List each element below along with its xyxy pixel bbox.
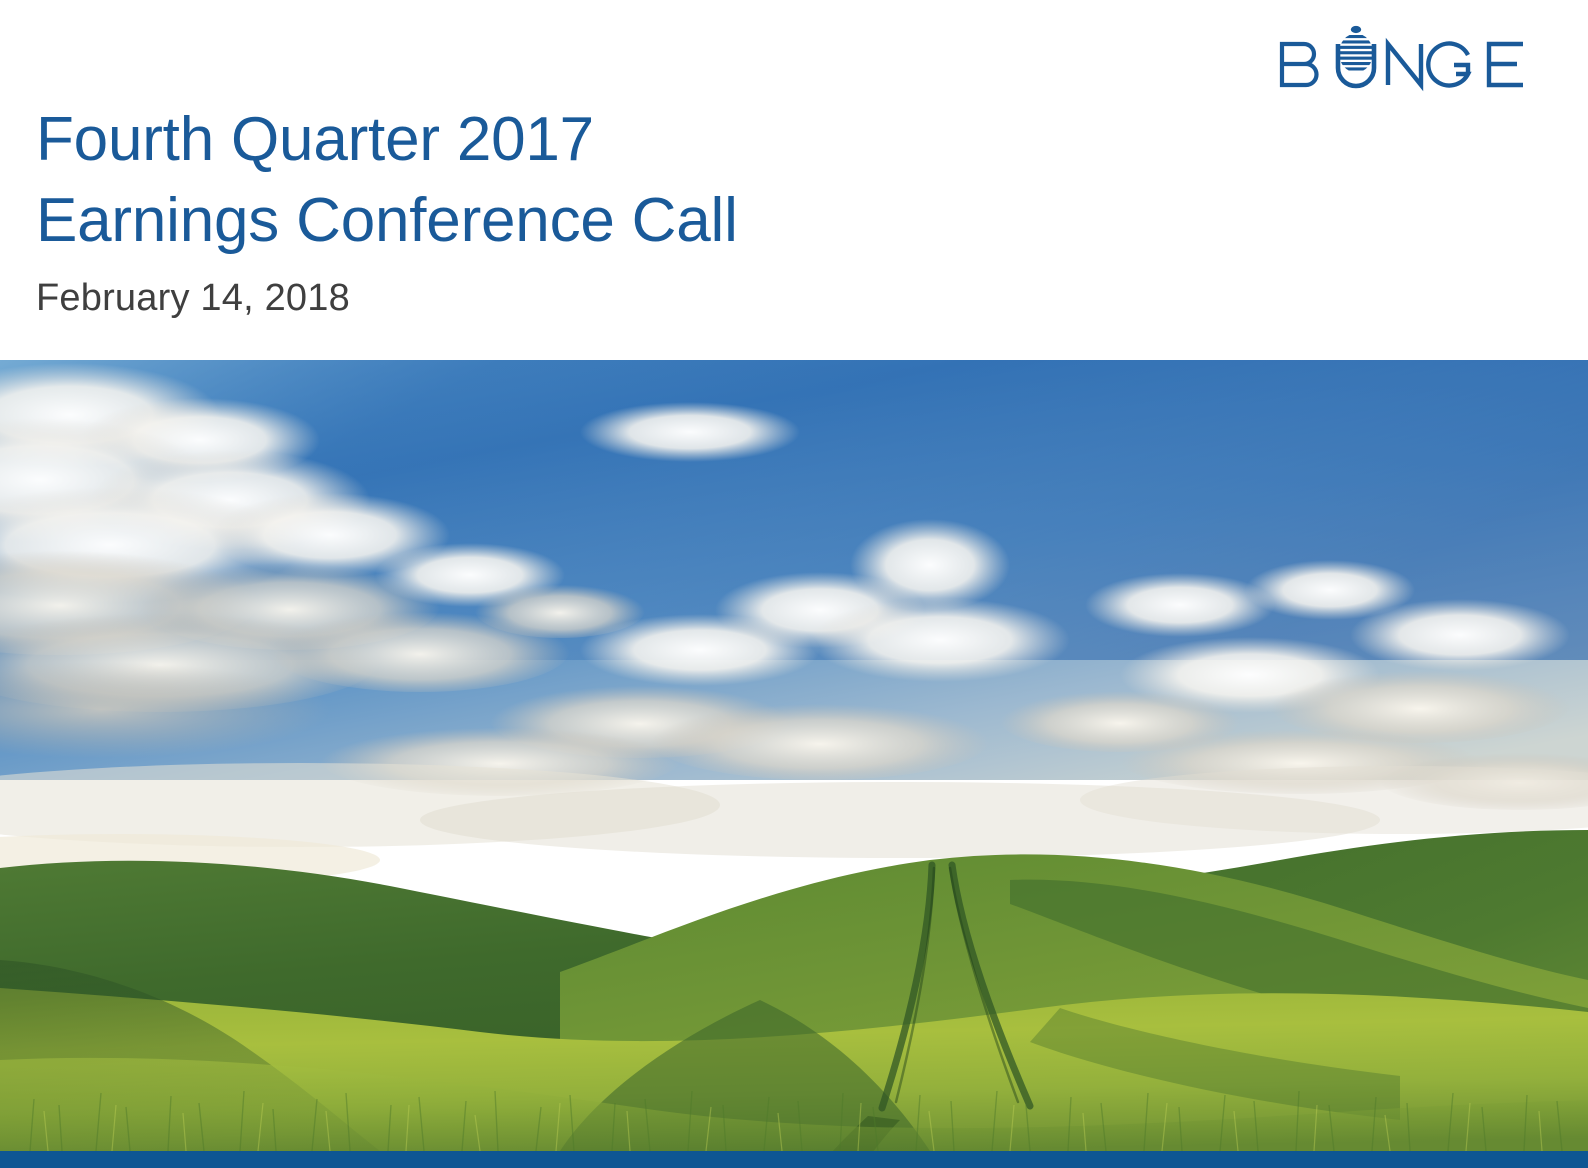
bottom-accent-bar [0, 1151, 1588, 1168]
hero-image-field-landscape [0, 360, 1588, 1151]
title-block: Fourth Quarter 2017 Earnings Conference … [36, 100, 1236, 323]
page-title-line-1: Fourth Quarter 2017 [36, 100, 1236, 181]
slide-date: February 14, 2018 [36, 275, 1236, 323]
presentation-title-slide: Fourth Quarter 2017 Earnings Conference … [0, 0, 1588, 1168]
page-title-line-2: Earnings Conference Call [36, 181, 1236, 262]
bunge-grain-icon [1336, 26, 1376, 71]
slide-header: Fourth Quarter 2017 Earnings Conference … [0, 0, 1588, 360]
bunge-wordmark [1282, 44, 1523, 86]
bunge-logo [1272, 22, 1532, 96]
